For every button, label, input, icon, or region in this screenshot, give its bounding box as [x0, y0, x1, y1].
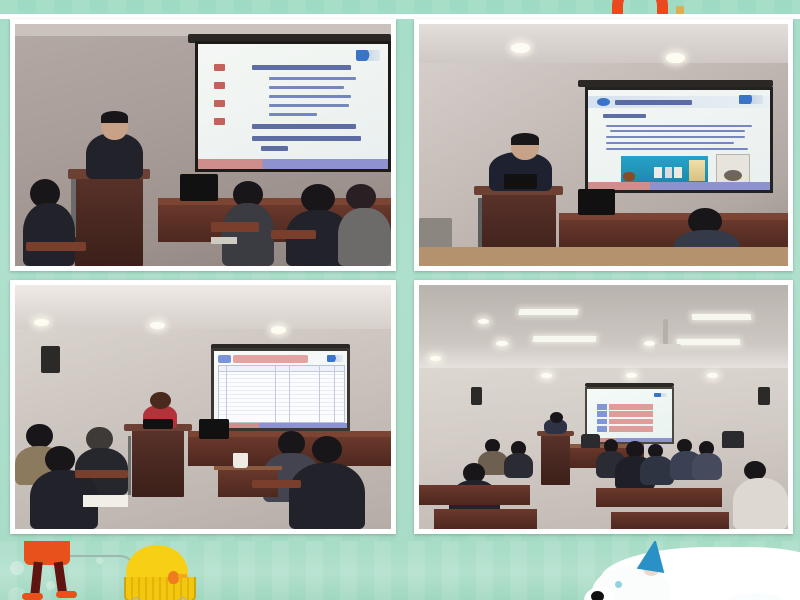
- slide-bottom-bar: [198, 159, 388, 169]
- audience-body: [733, 478, 788, 529]
- ceiling-light-panel: [677, 339, 740, 345]
- slide-bullet: [606, 142, 734, 144]
- slide-block-text: [609, 426, 653, 432]
- slide-block-text: [609, 404, 653, 410]
- ceiling-downlight: [644, 341, 655, 346]
- walker-coat: [24, 541, 70, 565]
- photo-frame-bottom-right[interactable]: [414, 280, 793, 534]
- audience-head: [346, 184, 376, 211]
- audience-body: [692, 453, 722, 480]
- audience-head: [301, 184, 335, 213]
- ceiling-downlight: [150, 322, 165, 329]
- ceiling-downlight: [430, 356, 441, 361]
- ceiling-light-panel: [518, 309, 578, 315]
- ceiling-downlight: [511, 43, 529, 53]
- screen-case: [585, 383, 674, 387]
- screen-case: [578, 80, 774, 87]
- wall-speaker: [758, 387, 769, 404]
- ceiling-light-panel: [692, 314, 752, 320]
- cable: [478, 198, 482, 251]
- projector-mount: [663, 319, 669, 343]
- audience-head: [45, 446, 75, 473]
- photo-top-left: [15, 24, 391, 266]
- slide-bottom-bar: [214, 423, 347, 428]
- slide-top-left: [198, 44, 388, 169]
- laptop: [143, 419, 173, 429]
- chair: [26, 242, 86, 252]
- slide-block-icon: [597, 411, 607, 417]
- audience-body: [289, 463, 364, 529]
- podium: [541, 434, 571, 485]
- ceiling-light-panel: [533, 336, 596, 342]
- polar-bear-eye: [615, 581, 622, 588]
- walker-shoe: [22, 593, 43, 600]
- bottom-decoration-band: [0, 541, 800, 600]
- audience-body: [640, 456, 673, 485]
- speaker-head: [550, 412, 563, 423]
- audience-body: [222, 203, 275, 266]
- room-ceiling: [419, 285, 788, 368]
- slide-bullet: [606, 136, 744, 138]
- chair: [75, 470, 128, 477]
- ceiling-downlight: [666, 53, 684, 63]
- audience-desk: [434, 509, 537, 529]
- polar-bear-nose: [591, 591, 604, 600]
- podium: [75, 174, 143, 266]
- bokeh-dot: [46, 581, 55, 590]
- slide-block-text: [609, 411, 653, 417]
- photo-frame-top-right[interactable]: [414, 19, 793, 271]
- ceiling-downlight: [541, 373, 552, 378]
- slide-illustration: [621, 156, 708, 182]
- walker-shoe: [56, 591, 77, 598]
- chair: [581, 434, 599, 449]
- slide-outline: [252, 65, 373, 151]
- chick-beak-icon: [178, 574, 187, 578]
- institute-logo-icon: [327, 355, 343, 363]
- institute-logo-icon: [356, 50, 381, 61]
- audience-desk: [611, 512, 729, 529]
- projection-screen: [585, 87, 773, 193]
- slide-header-text: [615, 100, 692, 105]
- desk-papers: [83, 495, 128, 507]
- ceiling-downlight: [271, 326, 286, 333]
- slide-bottom-left: [214, 351, 347, 428]
- slide-bullet: [606, 125, 752, 127]
- projection-screen: [211, 348, 350, 431]
- room-ceiling: [419, 24, 788, 63]
- audience-head: [278, 431, 304, 455]
- audience-body: [338, 208, 391, 266]
- podium: [132, 429, 185, 497]
- audience-body: [23, 203, 76, 266]
- audience-desk-top: [214, 466, 282, 471]
- desk-monitor: [199, 419, 229, 439]
- desk-monitor: [578, 189, 615, 216]
- institute-logo-icon: [654, 393, 668, 398]
- chair: [271, 230, 316, 240]
- slide-block-icon: [597, 419, 607, 425]
- audience-desk: [419, 485, 530, 505]
- ceiling-downlight: [707, 373, 718, 378]
- wall-speaker: [41, 346, 60, 373]
- walker-leg: [30, 562, 42, 596]
- photo-bottom-right: [419, 285, 788, 529]
- paper-cup: [233, 453, 248, 468]
- projection-screen: [195, 41, 391, 172]
- slide-side-image: [716, 154, 751, 184]
- audience-head: [312, 436, 342, 463]
- slide-vertical-title: [214, 64, 229, 125]
- slide-bullet: [606, 148, 748, 150]
- photo-frame-bottom-left[interactable]: [10, 280, 396, 534]
- audience-head: [26, 424, 52, 448]
- party-hat-icon: [637, 541, 670, 573]
- photo-bottom-left: [15, 285, 391, 529]
- chair: [252, 480, 301, 487]
- ceiling-downlight: [626, 373, 637, 378]
- photo-top-right: [419, 24, 788, 266]
- desk-monitor: [180, 174, 218, 201]
- desk-paper: [211, 237, 237, 244]
- laptop: [504, 174, 537, 189]
- ceiling-projector: [655, 344, 681, 354]
- slide-bottom-right: [587, 389, 672, 441]
- slide-block-icon: [597, 426, 607, 432]
- cable: [128, 436, 131, 495]
- bokeh-dot: [10, 561, 24, 575]
- photo-frame-top-left[interactable]: [10, 19, 396, 271]
- room-ceiling: [15, 285, 391, 329]
- slide-header-bullet-icon: [597, 98, 610, 106]
- wall-speaker: [471, 387, 482, 404]
- speaker-hair: [101, 111, 127, 123]
- slide-header-icon: [218, 355, 231, 363]
- audience-desk: [596, 488, 721, 508]
- slide-data-table: [218, 365, 345, 422]
- photo-grid: [0, 19, 800, 535]
- slide-bottom-bar: [588, 182, 770, 190]
- slide-block-icon: [597, 404, 607, 410]
- slide-subheader: [603, 114, 647, 118]
- audience-head: [86, 427, 112, 451]
- institute-logo-icon: [739, 95, 763, 104]
- chair: [211, 222, 260, 232]
- slide-bullet: [610, 130, 745, 132]
- ceiling-downlight: [496, 341, 507, 346]
- slide-header-title: [233, 355, 308, 363]
- chair: [722, 431, 744, 448]
- speaker-hair: [511, 133, 539, 145]
- room-floor: [419, 247, 788, 266]
- audience-body: [504, 453, 534, 477]
- slide-block-text: [609, 419, 653, 425]
- slide-top-right: [588, 90, 770, 190]
